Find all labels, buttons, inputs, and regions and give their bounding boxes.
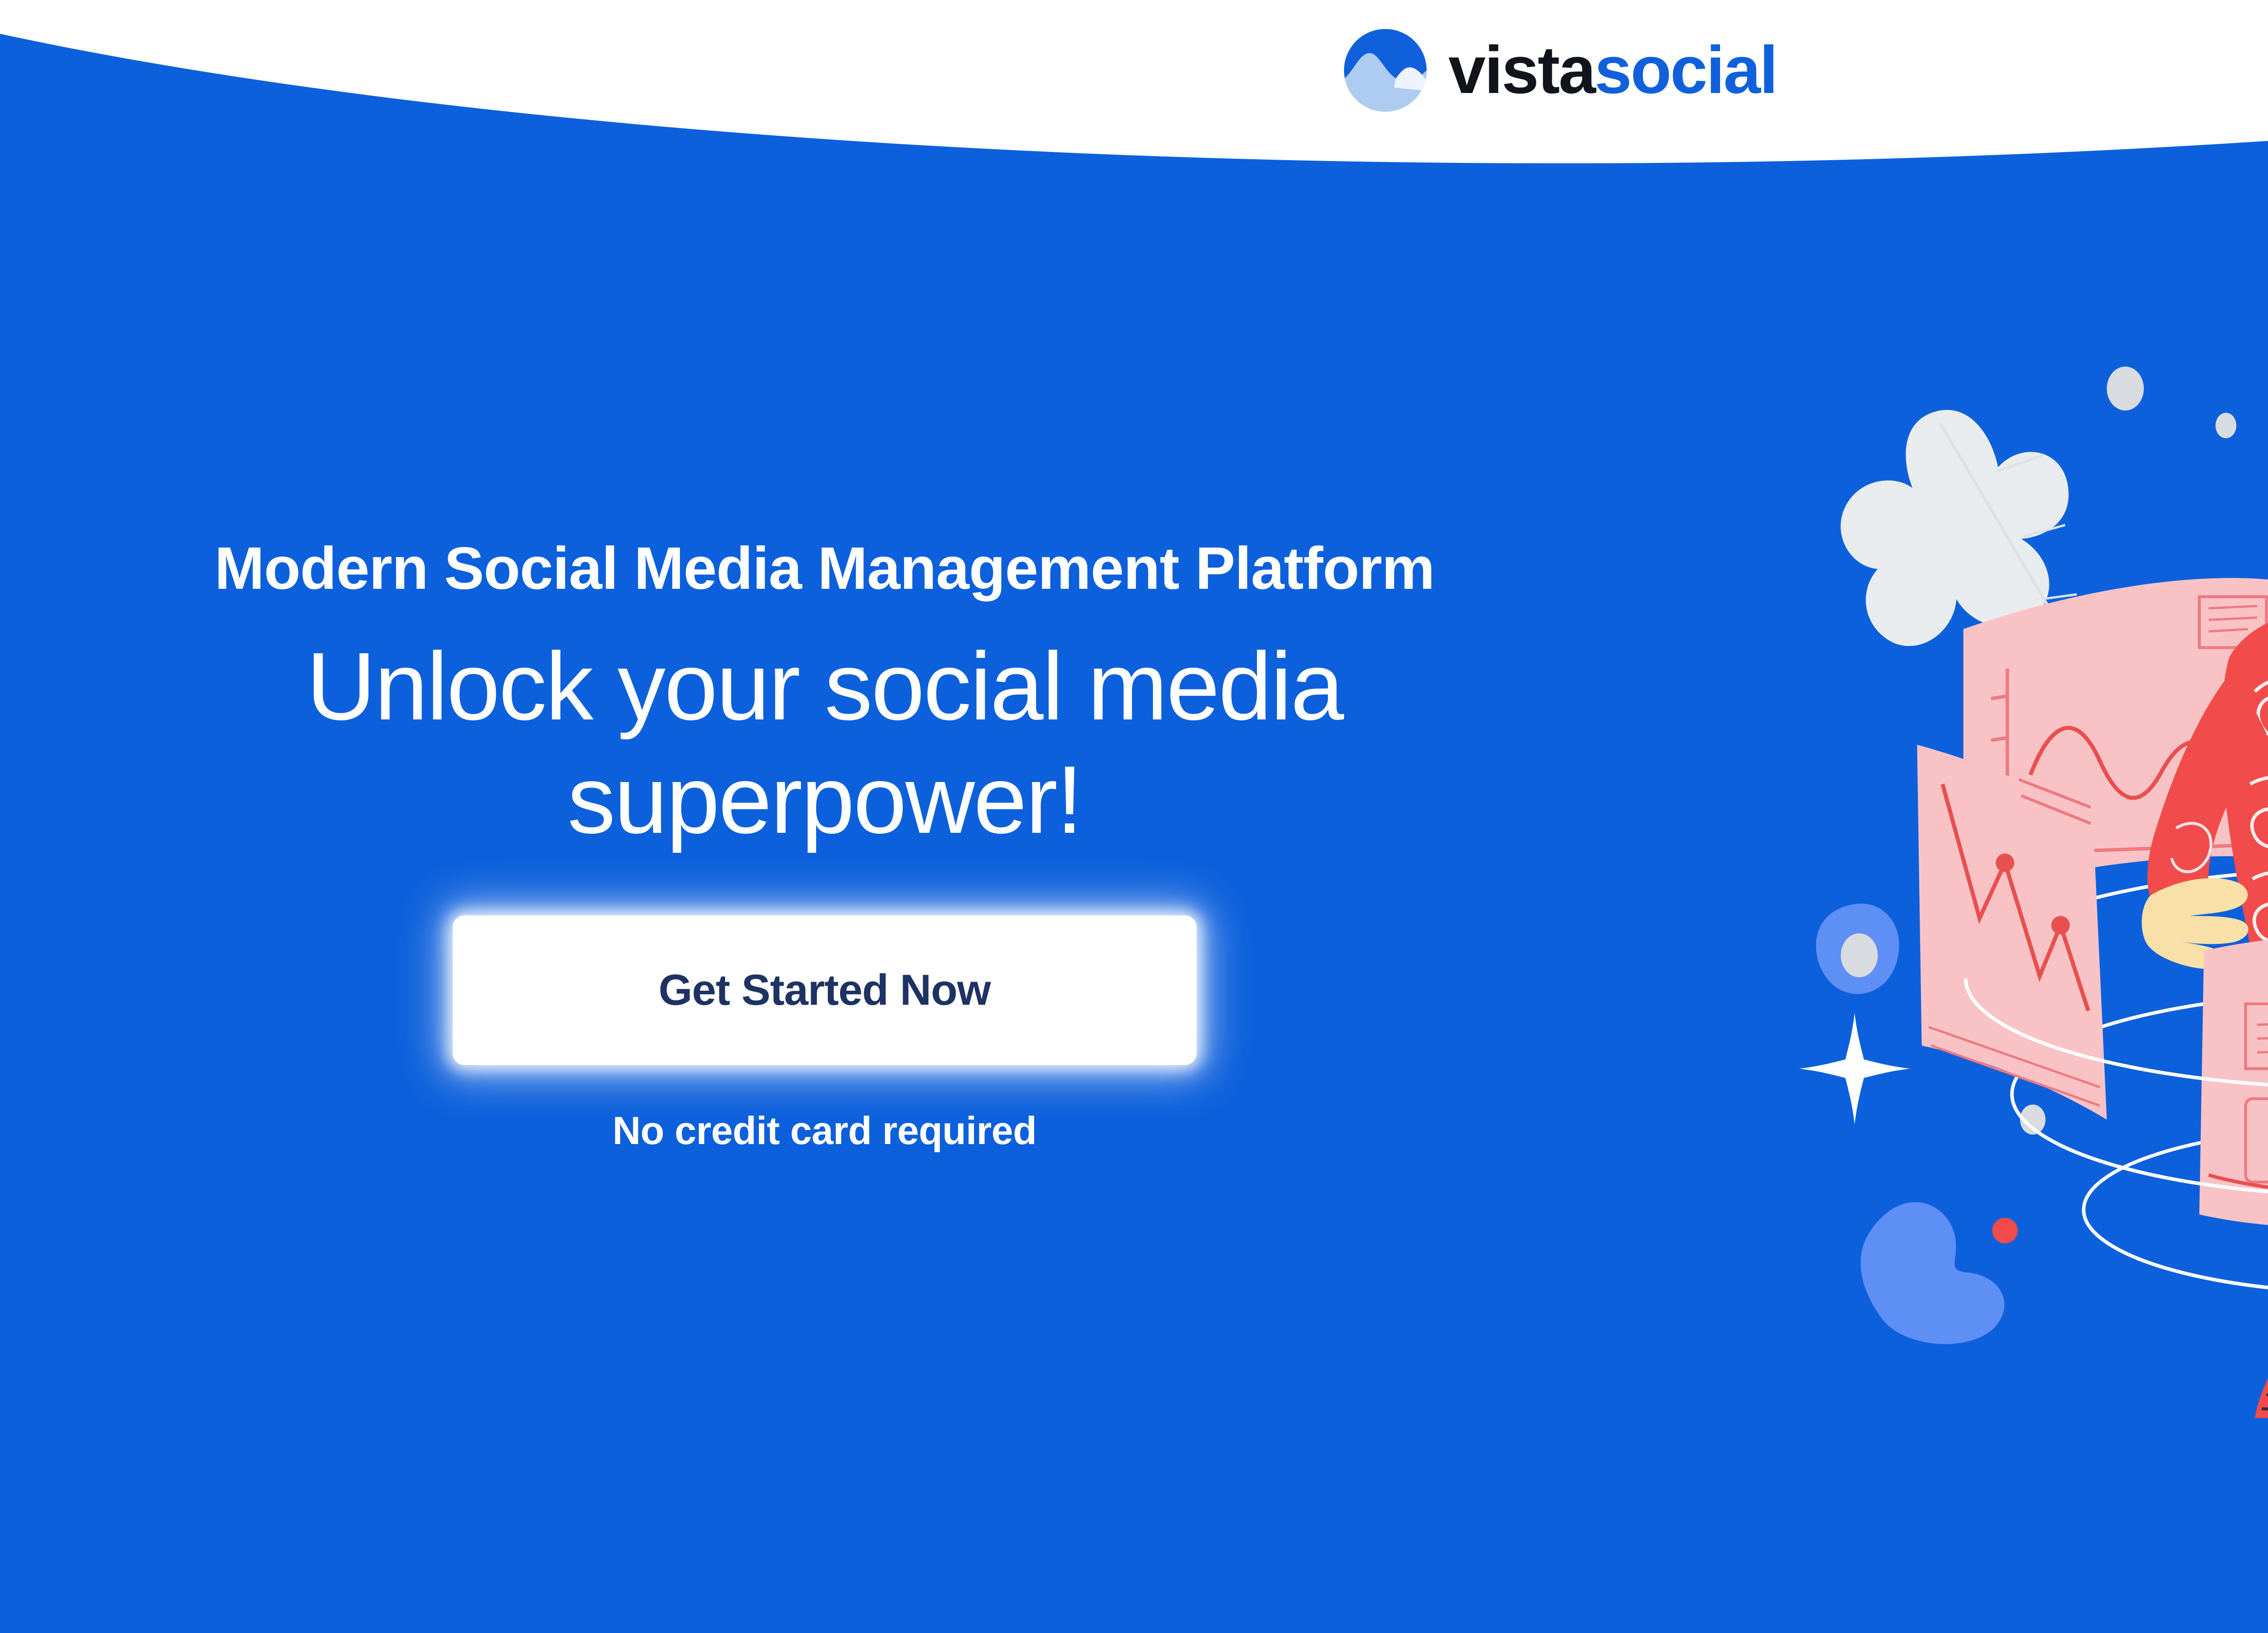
brand-logo[interactable]: vistasocial bbox=[1342, 27, 1777, 113]
hero-section: Modern Social Media Management Platform … bbox=[0, 0, 2268, 1633]
hero-headline: Unlock your social media superpower! bbox=[76, 630, 1573, 856]
vista-social-logo-icon bbox=[1342, 27, 1428, 113]
hero-cta-group: Get Started Now No credit card required bbox=[453, 915, 1197, 1154]
hero-eyebrow: Modern Social Media Management Platform bbox=[215, 534, 1435, 602]
get-started-button[interactable]: Get Started Now bbox=[453, 915, 1197, 1065]
declining-line-card bbox=[1917, 745, 2107, 1120]
brand-wordmark: vistasocial bbox=[1448, 37, 1777, 104]
brand-word-vista: vista bbox=[1448, 33, 1594, 108]
hero-illustration-column bbox=[1622, 0, 2268, 1633]
hero-copy-column: Modern Social Media Management Platform … bbox=[0, 534, 1622, 1154]
man-with-analytics-dashboards-illustration bbox=[1792, 261, 2268, 1418]
brand-word-social: social bbox=[1594, 33, 1777, 108]
no-credit-card-note: No credit card required bbox=[612, 1109, 1036, 1154]
